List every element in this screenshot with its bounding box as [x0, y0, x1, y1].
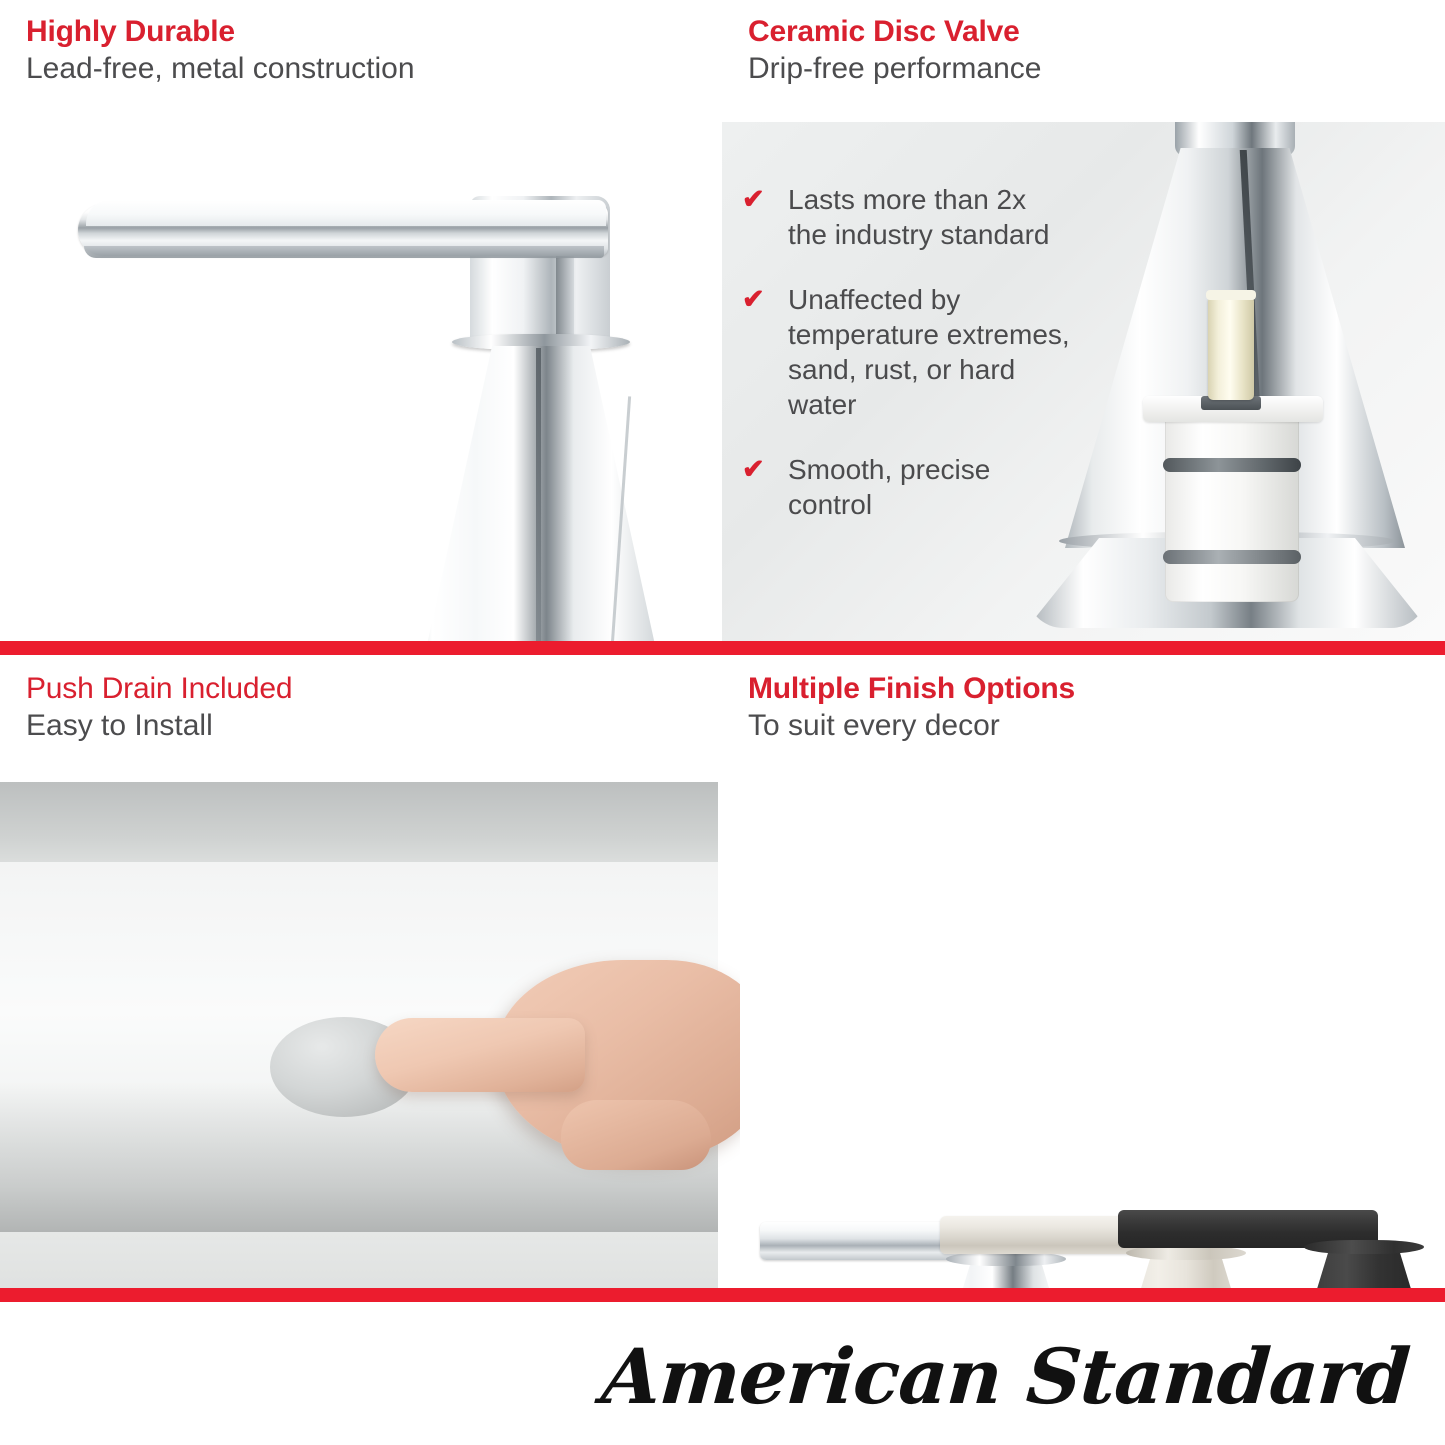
panel-heading-top-right: Ceramic Disc Valve Drip-free performance: [748, 14, 1041, 88]
valve-benefits-list: ✔ Lasts more than 2x the industry standa…: [740, 182, 1070, 522]
check-icon: ✔: [742, 456, 768, 482]
american-standard-logo: American Standard: [599, 1332, 1412, 1421]
spout-arm-edge: [84, 246, 604, 258]
cartridge-oring-upper: [1163, 458, 1301, 472]
top-right-title: Ceramic Disc Valve: [748, 14, 1041, 50]
handle-stem: [1132, 1248, 1240, 1290]
benefit-text: Lasts more than 2x the industry standard: [788, 184, 1050, 250]
faucet-spout-illustration: [0, 96, 710, 641]
benefit-text: Unaffected by temperature extremes, sand…: [788, 284, 1070, 420]
bottom-left-subtitle: Easy to Install: [26, 707, 292, 745]
handle-stem: [952, 1254, 1060, 1290]
spout-body: [405, 346, 677, 641]
valve-stem: [1208, 296, 1254, 400]
spout-body-highlight: [536, 348, 541, 641]
panel-heading-top-left: Highly Durable Lead-free, metal construc…: [26, 14, 415, 88]
panel-heading-bottom-left: Push Drain Included Easy to Install: [26, 671, 292, 745]
valve-stem-cap: [1206, 290, 1256, 300]
panel-heading-bottom-right: Multiple Finish Options To suit every de…: [748, 671, 1075, 745]
hand-pressing-drain: [375, 950, 745, 1180]
list-item: ✔ Unaffected by temperature extremes, sa…: [740, 282, 1070, 422]
divider-rule-bottom: [0, 1288, 1445, 1302]
ceramic-valve-image: ✔ Lasts more than 2x the industry standa…: [722, 122, 1445, 641]
check-icon: ✔: [742, 186, 768, 212]
list-item: ✔ Smooth, precise control: [740, 452, 1070, 522]
list-item: ✔ Lasts more than 2x the industry standa…: [740, 182, 1070, 252]
divider-rule-middle: [0, 641, 1445, 655]
bottom-left-title: Push Drain Included: [26, 671, 292, 707]
finish-options-image: [740, 790, 1445, 1290]
hand-thumb: [561, 1100, 711, 1170]
stem-ring: [1126, 1246, 1246, 1260]
ceramic-cartridge: [1165, 406, 1299, 602]
top-right-subtitle: Drip-free performance: [748, 50, 1041, 88]
benefit-text: Smooth, precise control: [788, 454, 990, 520]
check-icon: ✔: [742, 286, 768, 312]
stem-ring: [1304, 1240, 1424, 1254]
handle-stem: [1310, 1242, 1418, 1290]
bottom-right-title: Multiple Finish Options: [748, 671, 1075, 707]
spout-arm-top: [86, 200, 606, 226]
faucet-spout-image: [0, 96, 710, 641]
top-left-title: Highly Durable: [26, 14, 415, 50]
index-finger: [375, 1018, 585, 1092]
stem-ring: [946, 1252, 1066, 1266]
cartridge-oring-lower: [1163, 550, 1301, 564]
bottom-right-subtitle: To suit every decor: [748, 707, 1075, 745]
top-left-subtitle: Lead-free, metal construction: [26, 50, 415, 88]
infographic-sheet: Highly Durable Lead-free, metal construc…: [0, 0, 1445, 1445]
